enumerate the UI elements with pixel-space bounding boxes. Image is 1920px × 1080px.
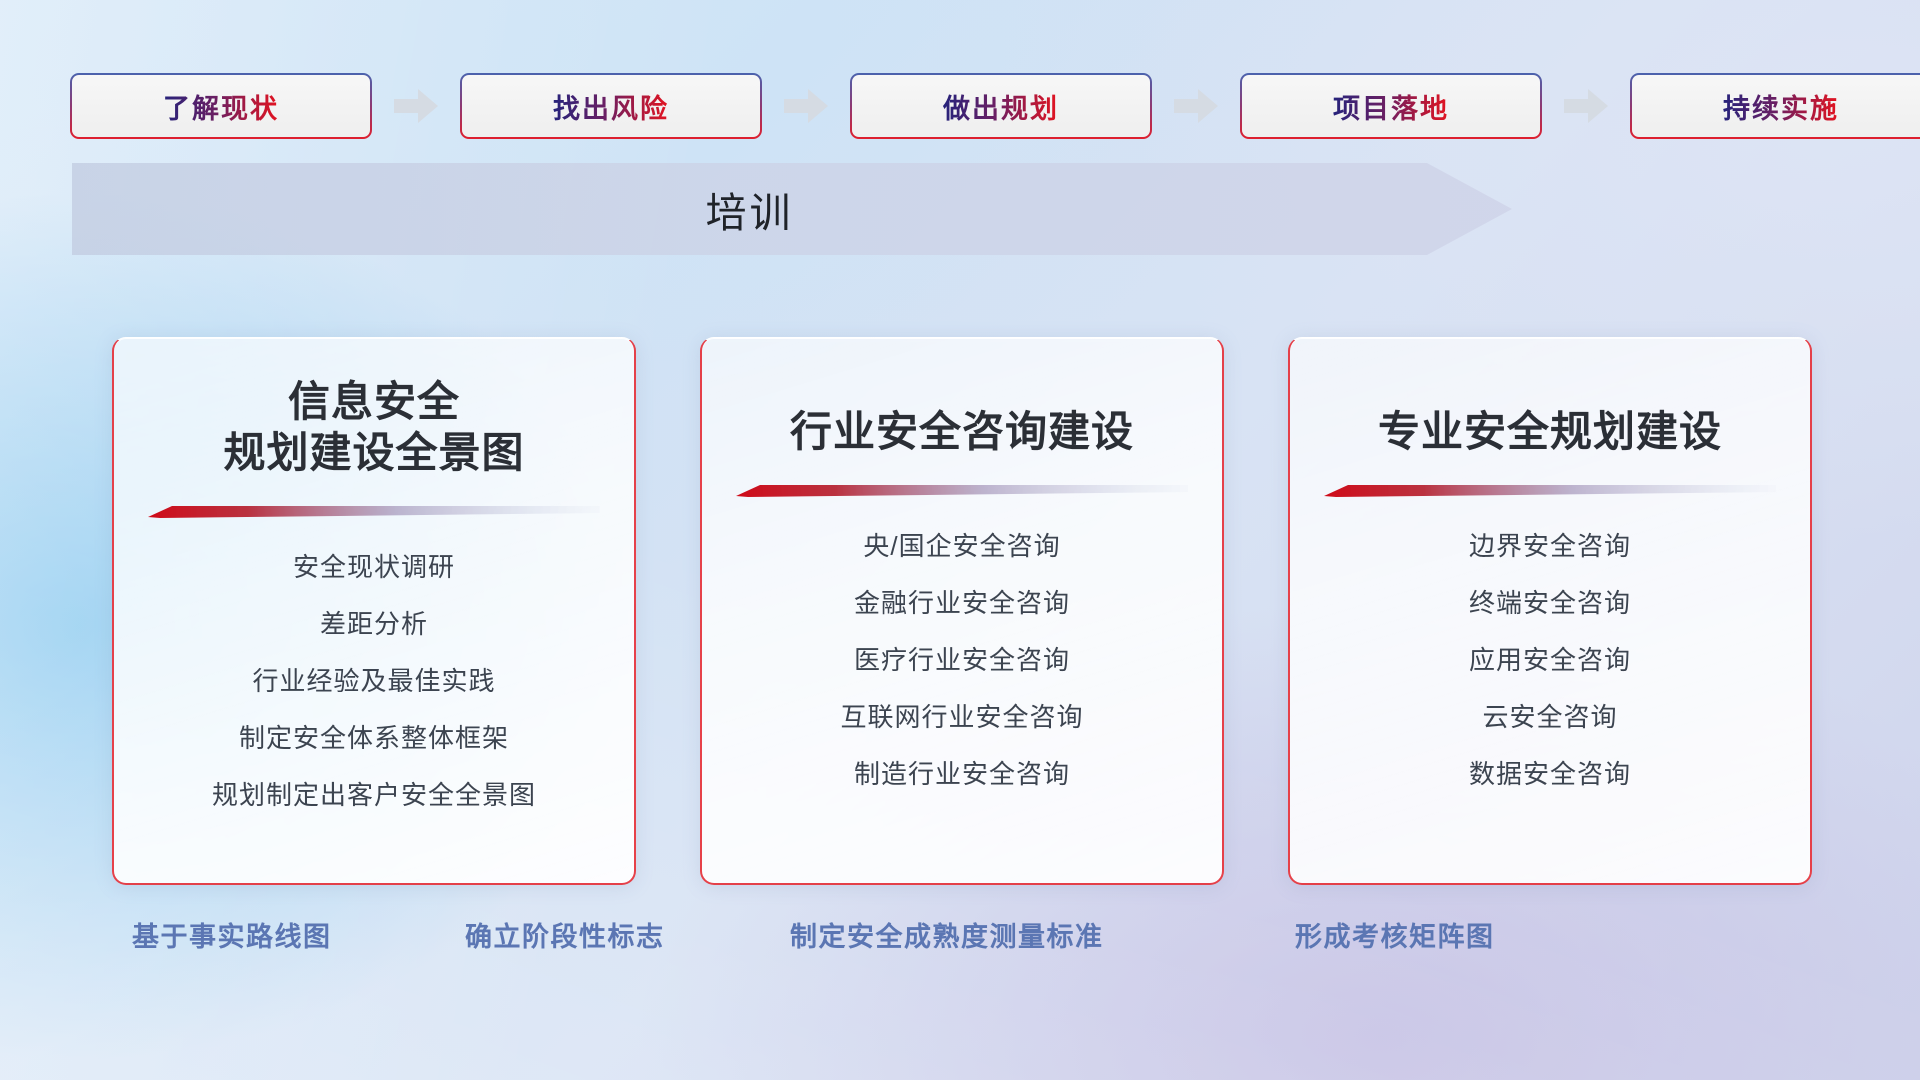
step-button-5[interactable]: 持续实施 xyxy=(1630,73,1920,139)
list-item: 互联网行业安全咨询 xyxy=(728,704,1196,761)
step-button-1-surface: 了解现状 xyxy=(72,75,370,137)
step-button-4-surface: 项目落地 xyxy=(1242,75,1540,137)
arrow-right-icon xyxy=(1174,89,1218,123)
arrow-right-icon xyxy=(394,89,438,123)
card-industry-security-consulting[interactable]: 行业安全咨询建设 央/国企安全咨询 金融行业安全咨询 xyxy=(700,337,1224,885)
list-item: 行业经验及最佳实践 xyxy=(140,668,608,725)
footer-label-2: 确立阶段性标志 xyxy=(465,915,665,954)
banner-title: 培训 xyxy=(72,163,1427,255)
step-button-2-label: 找出风险 xyxy=(553,87,669,126)
list-item: 规划制定出客户安全全景图 xyxy=(140,782,608,808)
card-1-divider xyxy=(148,504,600,518)
card-1-list: 安全现状调研 差距分析 行业经验及最佳实践 制定安全体系整体框架 规划制定出客户… xyxy=(140,554,608,808)
card-1-title: 信息安全 规划建设全景图 xyxy=(223,376,524,478)
list-item: 制造行业安全咨询 xyxy=(728,761,1196,787)
card-3-list: 边界安全咨询 终端安全咨询 应用安全咨询 云安全咨询 数据安全咨询 xyxy=(1316,533,1784,787)
card-professional-security-planning[interactable]: 专业安全规划建设 边界安全咨询 终端安全咨询 xyxy=(1288,337,1812,885)
arrow-right-icon xyxy=(784,89,828,123)
list-item: 差距分析 xyxy=(140,611,608,668)
list-item: 边界安全咨询 xyxy=(1316,533,1784,590)
list-item: 医疗行业安全咨询 xyxy=(728,647,1196,704)
step-button-1[interactable]: 了解现状 xyxy=(70,73,372,139)
footer-label-3: 制定安全成熟度测量标准 xyxy=(790,915,1104,954)
footer-label-4: 形成考核矩阵图 xyxy=(1295,915,1495,954)
card-2-list: 央/国企安全咨询 金融行业安全咨询 医疗行业安全咨询 互联网行业安全咨询 制造行… xyxy=(728,533,1196,787)
step-button-5-label: 持续实施 xyxy=(1723,87,1839,126)
step-button-3[interactable]: 做出规划 xyxy=(850,73,1152,139)
step-button-5-surface: 持续实施 xyxy=(1632,75,1920,137)
list-item: 云安全咨询 xyxy=(1316,704,1784,761)
list-item: 央/国企安全咨询 xyxy=(728,533,1196,590)
card-3-title: 专业安全规划建设 xyxy=(1378,406,1722,457)
card-2-divider xyxy=(736,483,1188,497)
list-item: 金融行业安全咨询 xyxy=(728,590,1196,647)
arrow-right-icon xyxy=(1564,89,1608,123)
footer-labels-row: 基于事实路线图 确立阶段性标志 制定安全成熟度测量标准 形成考核矩阵图 xyxy=(0,915,1920,963)
step-button-4[interactable]: 项目落地 xyxy=(1240,73,1542,139)
list-item: 制定安全体系整体框架 xyxy=(140,725,608,782)
list-item: 安全现状调研 xyxy=(140,554,608,611)
training-banner: 培训 xyxy=(72,163,1512,255)
cards-row: 信息安全 规划建设全景图 安全现状调研 差距分析 xyxy=(112,337,1812,885)
card-info-security-blueprint[interactable]: 信息安全 规划建设全景图 安全现状调研 差距分析 xyxy=(112,337,636,885)
list-item: 应用安全咨询 xyxy=(1316,647,1784,704)
list-item: 数据安全咨询 xyxy=(1316,761,1784,787)
step-button-2[interactable]: 找出风险 xyxy=(460,73,762,139)
card-2-title: 行业安全咨询建设 xyxy=(790,406,1134,457)
step-button-2-surface: 找出风险 xyxy=(462,75,760,137)
process-steps-row: 了解现状 找出风险 做出规划 项目落地 xyxy=(70,72,1860,140)
card-3-divider xyxy=(1324,483,1776,497)
step-button-3-surface: 做出规划 xyxy=(852,75,1150,137)
list-item: 终端安全咨询 xyxy=(1316,590,1784,647)
step-button-3-label: 做出规划 xyxy=(943,87,1059,126)
footer-label-1: 基于事实路线图 xyxy=(132,915,332,954)
step-button-1-label: 了解现状 xyxy=(163,87,279,126)
step-button-4-label: 项目落地 xyxy=(1333,87,1449,126)
slide-canvas: 了解现状 找出风险 做出规划 项目落地 xyxy=(0,0,1920,1080)
